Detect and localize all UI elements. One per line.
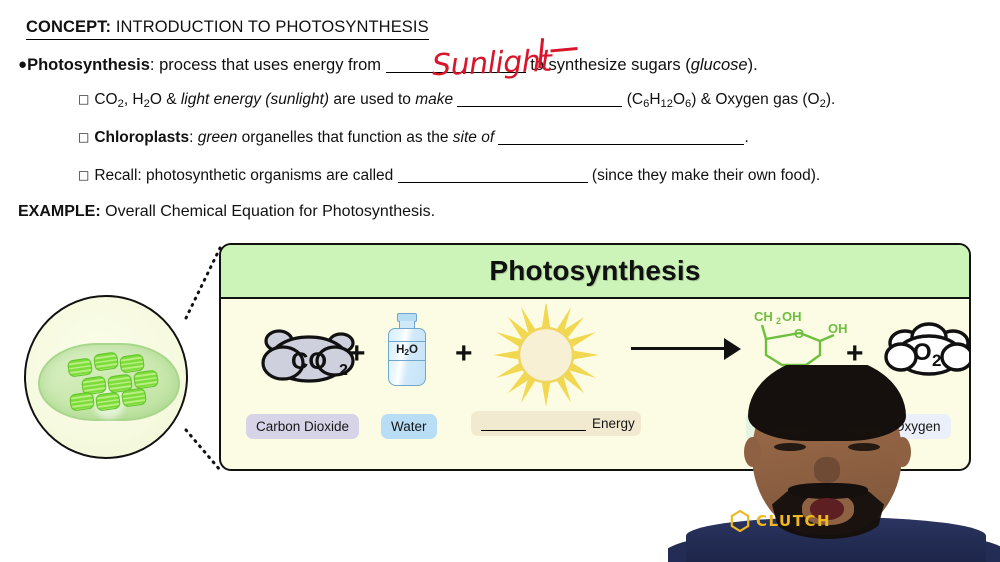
label-energy-text: Energy — [592, 416, 635, 431]
answer-blank-2[interactable] — [457, 106, 622, 107]
site-of-italic: site of — [453, 129, 494, 146]
bottle-formula: H2O — [386, 344, 428, 357]
plus-operator-1: + — [348, 337, 366, 371]
green-italic: green — [198, 129, 238, 146]
sub: 12 — [661, 98, 673, 110]
checkbox-square-icon: □ — [78, 168, 89, 182]
txt: Recall: photosynthetic organisms are cal… — [94, 167, 397, 184]
shirt-brand-text: CLUTCH — [756, 512, 831, 530]
txt: (since they make their own food). — [588, 167, 821, 184]
handwritten-text: Sunlight — [431, 44, 552, 84]
txt: ). — [826, 91, 835, 108]
example-text: Overall Chemical Equation for Photosynth… — [101, 203, 435, 220]
plus-operator-2: + — [455, 337, 473, 371]
svg-text:CO: CO — [291, 348, 327, 375]
txt: , H — [124, 91, 144, 108]
txt: : — [189, 129, 198, 146]
txt: CO — [94, 91, 117, 108]
svg-text:2: 2 — [776, 316, 781, 326]
glucose-italic: glucose — [691, 56, 748, 74]
nose — [814, 457, 840, 483]
sub-item-chloroplasts: □Chloroplasts: green organelles that fun… — [78, 129, 749, 147]
label-carbon-dioxide: Carbon Dioxide — [246, 414, 359, 439]
concept-title: INTRODUCTION TO PHOTOSYNTHESIS — [111, 18, 429, 36]
answer-blank-4[interactable] — [398, 182, 588, 183]
label-energy-box: Energy — [471, 411, 641, 436]
txt: are used to — [329, 91, 415, 108]
txt: O — [673, 91, 685, 108]
txt: ) & Oxygen gas (O — [691, 91, 819, 108]
water-bottle-icon: H2O — [386, 313, 428, 389]
shirt-logo: CLUTCH — [730, 510, 831, 532]
txt: O & — [150, 91, 181, 108]
answer-blank-3[interactable] — [498, 144, 744, 145]
definition-text-end: ). — [748, 56, 758, 74]
txt: organelles that function as the — [237, 129, 452, 146]
concept-heading: CONCEPT: INTRODUCTION TO PHOTOSYNTHESIS — [26, 18, 429, 40]
definition-text-before: : process that uses energy from — [150, 56, 386, 74]
svg-text:O: O — [913, 339, 932, 366]
concept-label: CONCEPT: — [26, 18, 111, 36]
hexagon-logo-icon — [730, 510, 750, 532]
term-chloroplasts: Chloroplasts — [94, 129, 189, 146]
make-italic: make — [415, 91, 453, 108]
ear-left — [744, 437, 761, 467]
panel-header: Photosynthesis — [221, 245, 969, 299]
sub-item-reactants: □CO2, H2O & light energy (sunlight) are … — [78, 91, 835, 110]
eye-left — [774, 443, 806, 451]
mustache — [788, 483, 868, 499]
ear-right — [894, 437, 911, 467]
reaction-arrow-line — [631, 347, 726, 350]
instructor-webcam-overlay: CLUTCH — [668, 365, 1000, 562]
label-water: Water — [381, 414, 437, 439]
energy-answer-blank[interactable] — [481, 430, 586, 431]
co2-cloud-icon: CO 2 — [253, 319, 363, 389]
txt: (C — [622, 91, 643, 108]
sun-icon — [491, 302, 601, 408]
txt: H — [649, 91, 660, 108]
svg-text:O: O — [794, 326, 804, 341]
sub-item-recall: □Recall: photosynthetic organisms are ca… — [78, 167, 820, 185]
light-energy-italic: light energy (sunlight) — [181, 91, 329, 108]
svg-text:CH: CH — [754, 311, 773, 324]
svg-text:2: 2 — [339, 362, 348, 379]
term-photosynthesis: Photosynthesis — [27, 56, 150, 74]
example-label: EXAMPLE: — [18, 203, 101, 220]
handwriting-stroke-t — [550, 47, 577, 52]
notes-region: CONCEPT: INTRODUCTION TO PHOTOSYNTHESIS … — [0, 0, 1000, 232]
checkbox-square-icon: □ — [78, 92, 89, 106]
svg-text:OH: OH — [828, 321, 848, 336]
txt: O — [409, 344, 418, 356]
example-heading: EXAMPLE: Overall Chemical Equation for P… — [18, 203, 435, 221]
chloroplast-illustration — [24, 295, 188, 459]
bullet-dot-icon: ● — [18, 56, 27, 73]
eye-right — [848, 443, 880, 451]
photosynthesis-definition-line: ●Photosynthesis: process that uses energ… — [18, 56, 758, 75]
svg-text:OH: OH — [782, 311, 802, 324]
handwritten-answer-sunlight: Sunlight — [431, 44, 552, 84]
txt: . — [744, 129, 748, 146]
checkbox-square-icon: □ — [78, 130, 89, 144]
panel-title: Photosynthesis — [489, 255, 700, 287]
reaction-arrow-head — [724, 338, 741, 360]
